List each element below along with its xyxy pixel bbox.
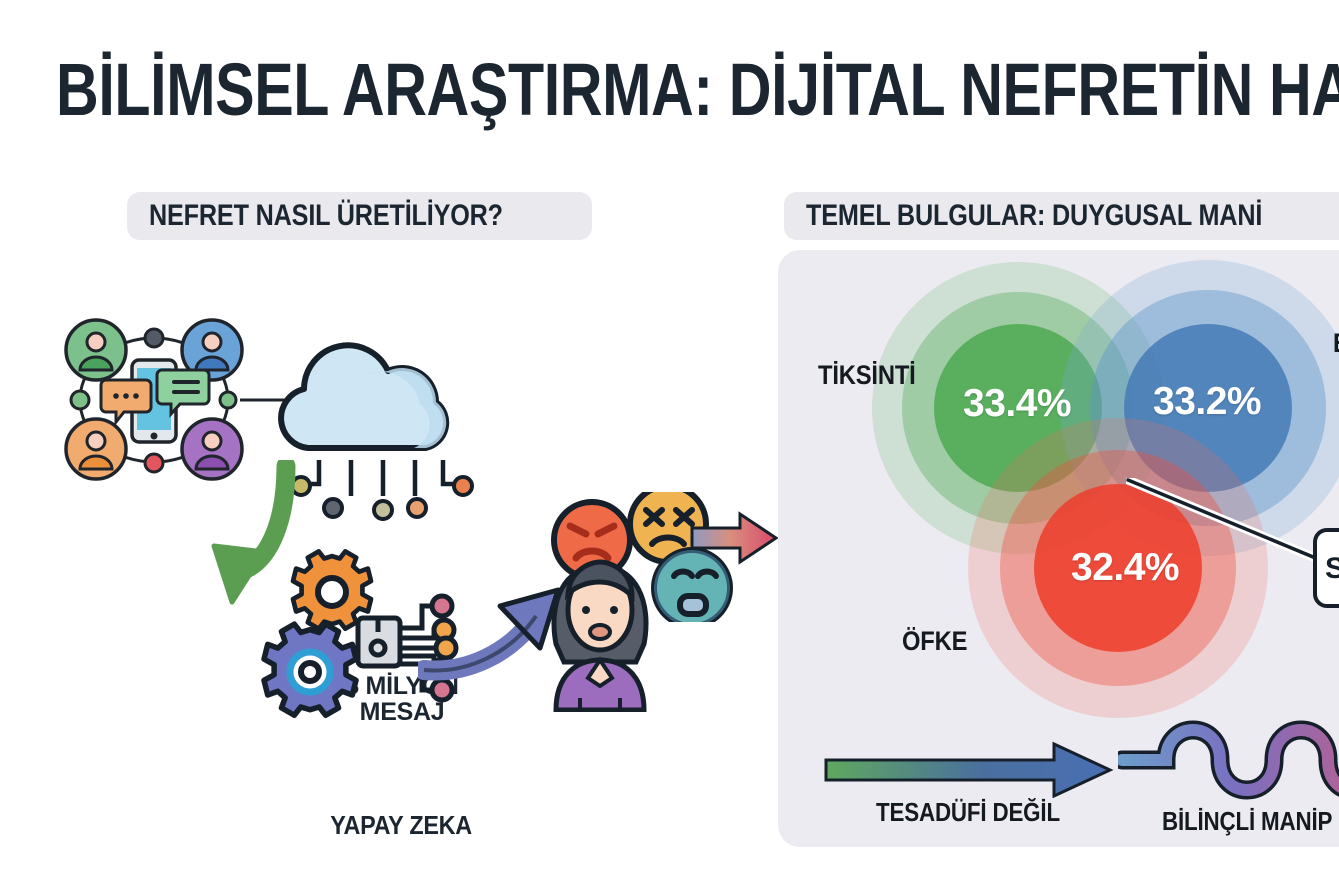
gradient-arrow-icon bbox=[824, 740, 1114, 798]
cloud-icon bbox=[256, 336, 472, 464]
right-section-header-label: TEMEL BULGULAR: DUYGUSAL MANİ bbox=[806, 199, 1262, 233]
process-illustration: 3 MİLYON MESAJ YAPAY ZEKA bbox=[40, 300, 760, 740]
venn-label-fear: E bbox=[1333, 328, 1339, 359]
left-section-header: NEFRET NASIL ÜRETİLİYOR? bbox=[127, 192, 592, 240]
venn-value-fear: 33.2% bbox=[1153, 380, 1261, 424]
bottom-left-label: TESADÜFİ DEĞİL bbox=[876, 797, 1060, 828]
right-arrow-icon bbox=[690, 508, 780, 568]
callout-box: S bbox=[1313, 528, 1339, 608]
venn-value-disgust: 33.4% bbox=[963, 382, 1071, 426]
venn-label-anger: ÖFKE bbox=[902, 626, 967, 657]
wavy-line-icon bbox=[1118, 712, 1339, 802]
left-section-header-label: NEFRET NASIL ÜRETİLİYOR? bbox=[149, 199, 503, 233]
ai-label: YAPAY ZEKA bbox=[321, 812, 481, 839]
circuit-icon bbox=[293, 460, 483, 526]
venn-diagram: 33.4% 33.2% 32.4% TİKSİNTİ E ÖFKE bbox=[778, 250, 1339, 710]
findings-panel: 33.4% 33.2% 32.4% TİKSİNTİ E ÖFKE TESADÜ… bbox=[778, 250, 1339, 847]
callout-text: S bbox=[1325, 552, 1339, 586]
page-title: BİLİMSEL ARAŞTIRMA: DİJİTAL NEFRETİN HAR… bbox=[56, 52, 1339, 128]
venn-label-disgust: TİKSİNTİ bbox=[818, 360, 916, 391]
bottom-right-label: BİLİNÇLİ MANİP bbox=[1162, 806, 1332, 837]
callout-pointer-icon bbox=[1126, 478, 1339, 593]
right-section-header: TEMEL BULGULAR: DUYGUSAL MANİ bbox=[784, 192, 1339, 240]
distressed-person-icon bbox=[540, 552, 660, 712]
social-network-icon bbox=[54, 318, 254, 483]
